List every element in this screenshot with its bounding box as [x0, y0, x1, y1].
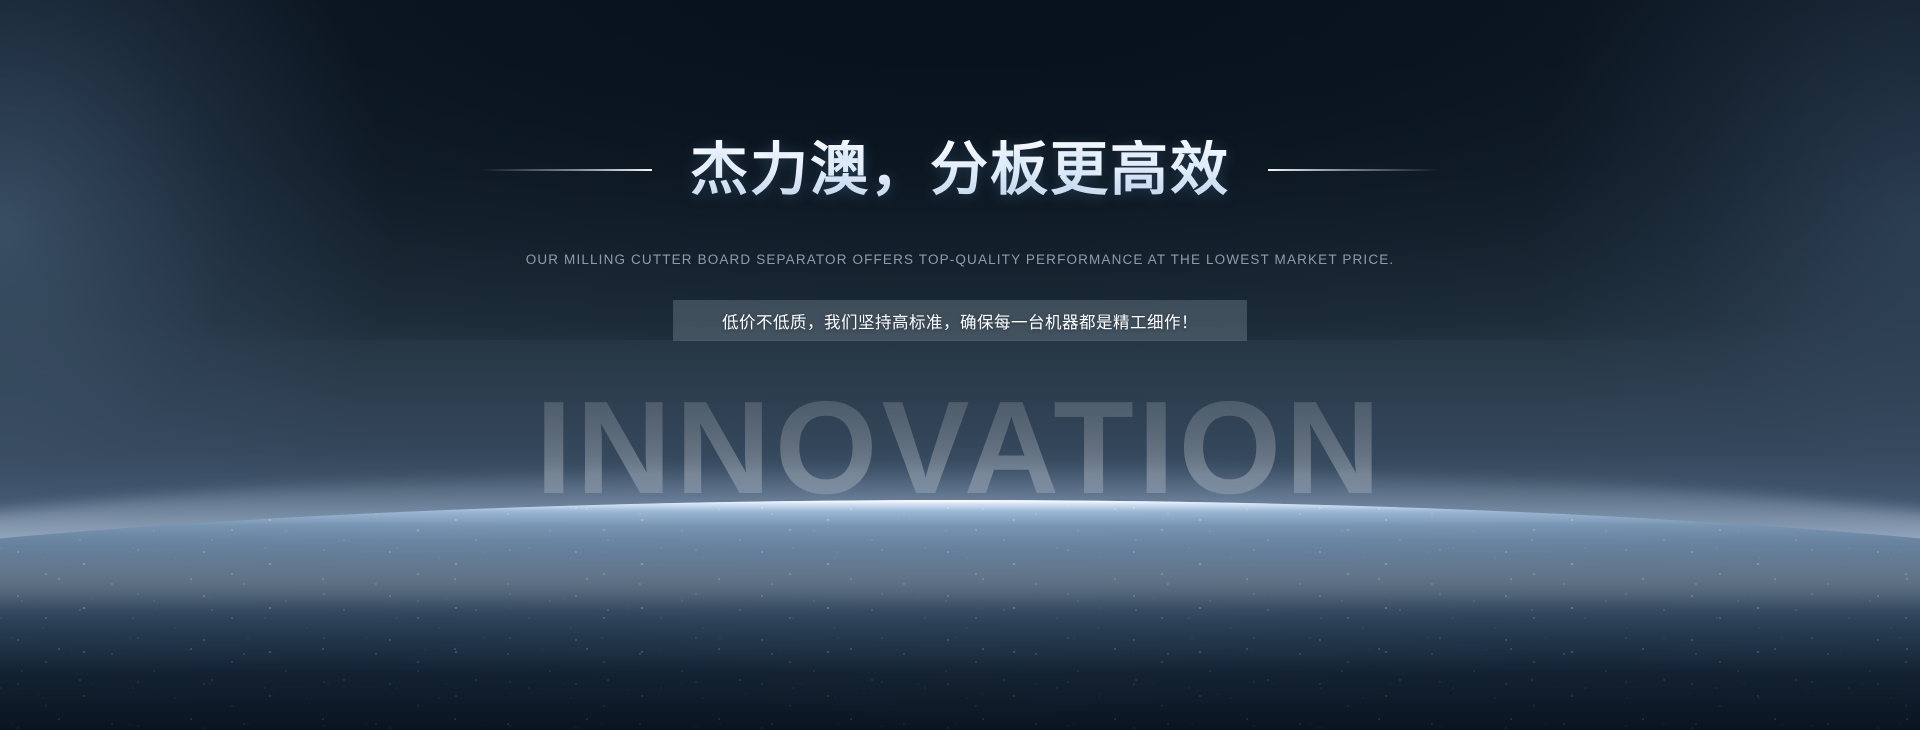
page-title: 杰力澳，分板更高效: [690, 140, 1230, 201]
tagline-banner: 低价不低质，我们坚持高标准，确保每一台机器都是精工细作！: [673, 300, 1247, 341]
tagline-text: 低价不低质，我们坚持高标准，确保每一台机器都是精工细作！: [722, 309, 1198, 333]
hero-subtitle: OUR MILLING CUTTER BOARD SEPARATOR OFFER…: [0, 252, 1920, 267]
decorative-rule-left: [480, 169, 652, 171]
hero-banner: INNOVATION 杰力澳，分板更高效 OUR MILLING CUTTER …: [0, 0, 1920, 730]
decorative-rule-right: [1268, 169, 1440, 171]
hero-content: 杰力澳，分板更高效 OUR MILLING CUTTER BOARD SEPAR…: [0, 0, 1920, 730]
title-row: 杰力澳，分板更高效: [0, 140, 1920, 201]
